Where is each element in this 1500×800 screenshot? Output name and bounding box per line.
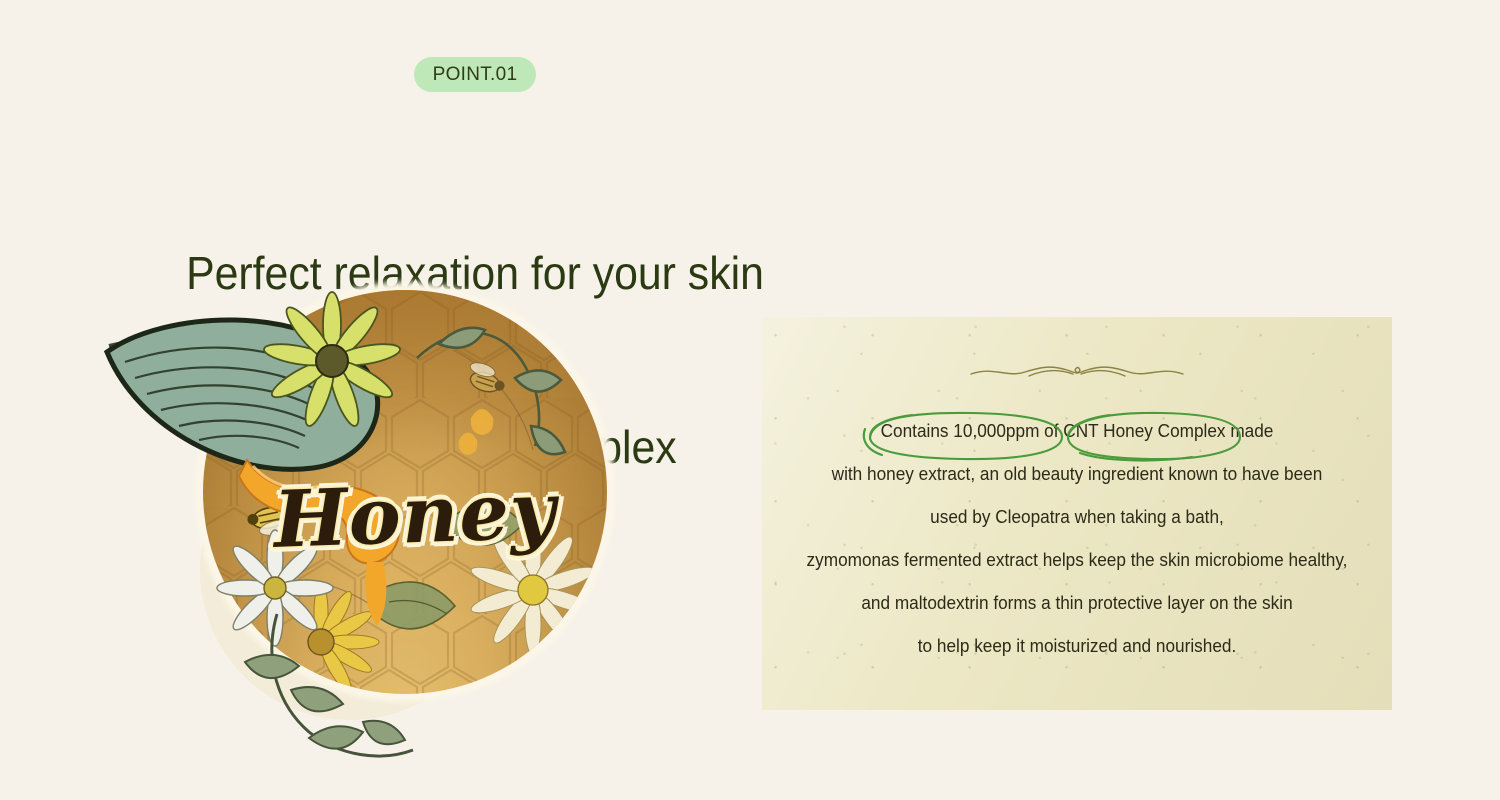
paper-line-4: zymomonas fermented extract helps keep t… [784, 538, 1370, 581]
point-badge: POINT.01 [414, 57, 536, 92]
promo-page: POINT.01 Perfect relaxation for your ski… [0, 0, 1500, 800]
point-badge-label: POINT.01 [433, 64, 518, 86]
upper-vine-icon [417, 328, 565, 454]
paper-line-3: used by Cleopatra when taking a bath, [784, 495, 1370, 538]
paper-line-1: Contains 10,000ppm of CNT Honey Complex … [784, 409, 1370, 452]
flourish-divider-icon [967, 357, 1187, 387]
honey-logo-text: Honey [244, 464, 587, 567]
paper-line-2: with honey extract, an old beauty ingred… [784, 452, 1370, 495]
paper-line-6: to help keep it moisturized and nourishe… [784, 624, 1370, 667]
info-paper-card: Contains 10,000ppm of CNT Honey Complex … [762, 317, 1392, 710]
honey-artwork: Honey [95, 270, 715, 770]
paper-line-5: and maltodextrin forms a thin protective… [784, 581, 1370, 624]
paper-body-text: Contains 10,000ppm of CNT Honey Complex … [784, 409, 1370, 667]
